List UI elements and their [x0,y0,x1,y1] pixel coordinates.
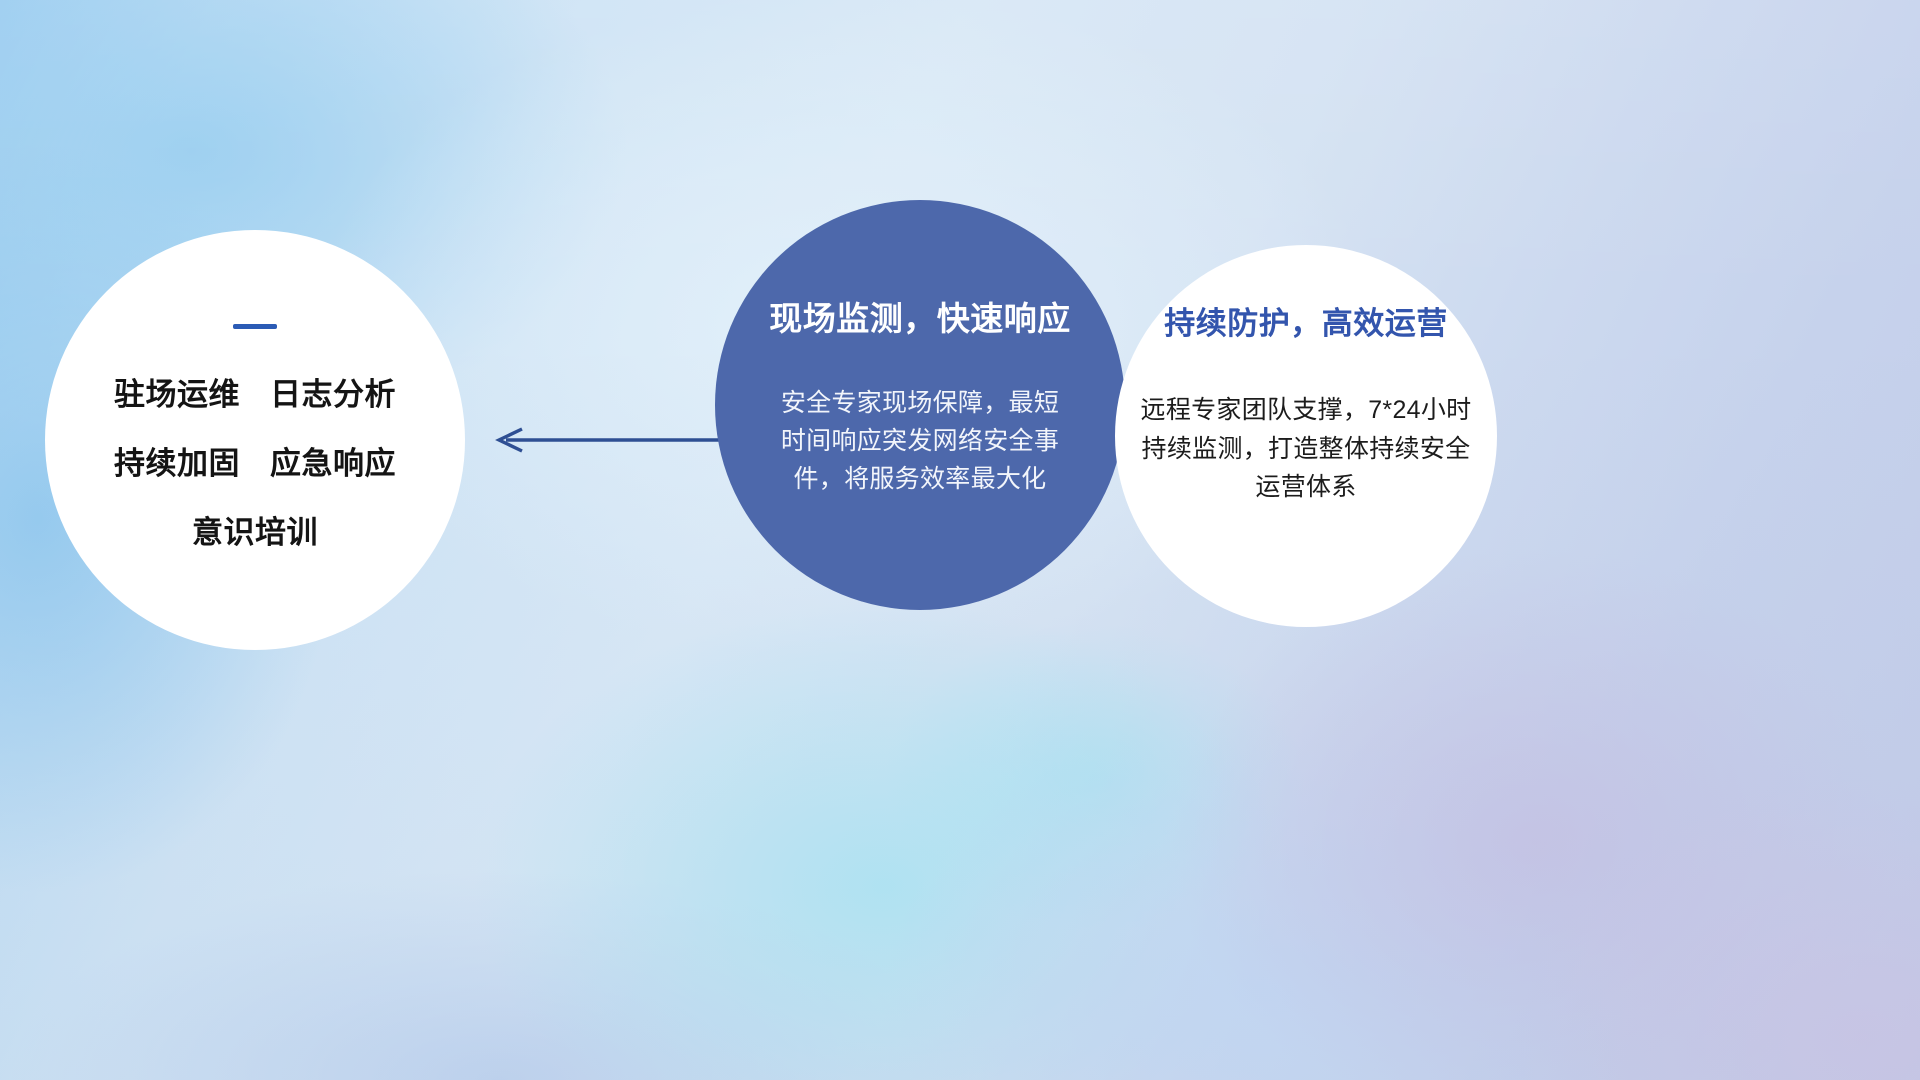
capability-keyword: 驻场运维 [114,369,240,414]
onsite-description: 安全专家现场保障，最短时间响应突发网络安全事件，将服务效率最大化 [777,384,1063,498]
diagram-canvas: 驻场运维 日志分析 持续加固 应急响应 意识培训 现场监测，快速响应 安全专家现… [0,0,1920,1080]
node-capabilities[interactable]: 驻场运维 日志分析 持续加固 应急响应 意识培训 [45,230,465,650]
capability-keyword-list: 驻场运维 日志分析 持续加固 应急响应 意识培训 [114,369,396,552]
capability-keyword: 日志分析 [270,369,396,414]
capability-keyword: 应急响应 [270,438,396,483]
capability-row: 意识培训 [192,507,318,552]
capability-row: 驻场运维 日志分析 [114,369,396,414]
continuous-title: 持续防护，高效运营 [1164,298,1448,343]
node-continuous-protection[interactable]: 持续防护，高效运营 远程专家团队支撑，7*24小时持续监测，打造整体持续安全运营… [1115,245,1497,627]
capability-keyword: 意识培训 [192,507,318,552]
capability-keyword: 持续加固 [114,438,240,483]
onsite-title: 现场监测，快速响应 [769,292,1071,340]
capability-row: 持续加固 应急响应 [114,438,396,483]
accent-dash-icon [233,324,277,329]
node-onsite-monitoring[interactable]: 现场监测，快速响应 安全专家现场保障，最短时间响应突发网络安全事件，将服务效率最… [715,200,1125,610]
continuous-description: 远程专家团队支撑，7*24小时持续监测，打造整体持续安全运营体系 [1130,391,1482,507]
